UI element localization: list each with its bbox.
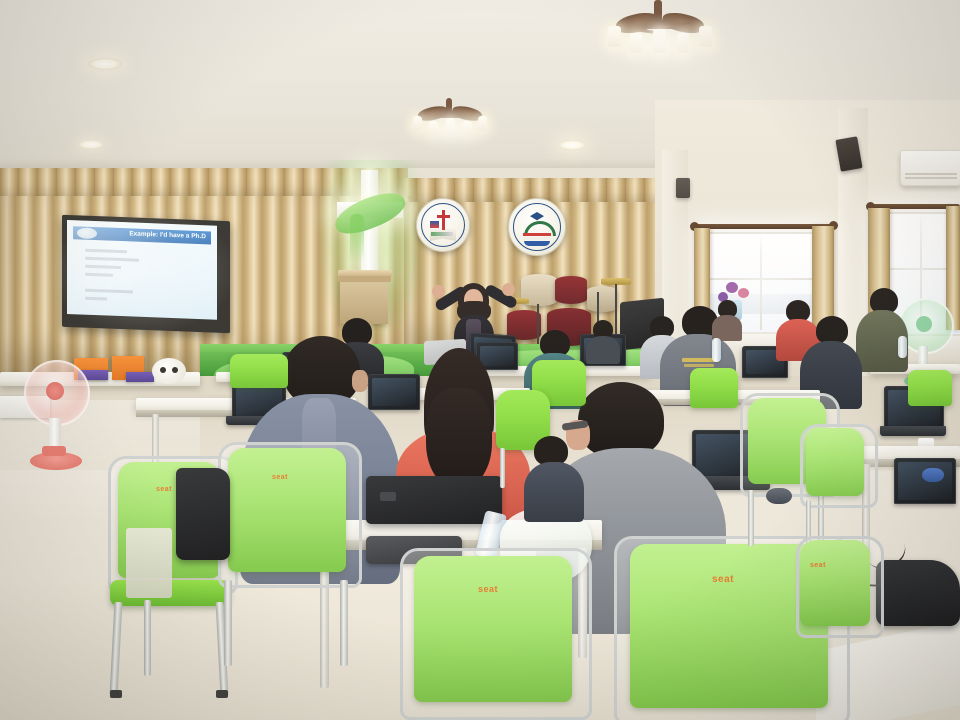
attendee-dark-navy [524,436,584,516]
computer-mouse [922,468,944,482]
chair-center-left: seat [212,448,362,638]
school-seal [508,198,566,256]
laptop-base [880,426,946,436]
chair-front-center: seat [392,556,592,720]
floor-bag [176,468,230,560]
chair-leg [340,580,348,666]
attendee-back-small [586,320,620,360]
chair-right-mid2 [800,428,872,544]
chair-leg [110,602,123,696]
tom-drum [555,276,587,304]
chair-logo: seat [810,562,826,569]
floor-paper [126,528,172,598]
chair-backrest [230,354,288,388]
shirt-print [682,358,716,362]
computer-mouse [766,488,792,504]
bag-logo [380,492,396,501]
chair-backrest [690,368,738,408]
chair-back-small [906,370,956,410]
chair-leg [748,490,754,546]
chair-leg [224,580,232,666]
chair-logo: seat [478,584,498,594]
downlight-icon [78,140,104,149]
plush-toy [152,358,186,384]
water-bottle [712,338,721,362]
presenter-hand-right [502,283,515,296]
presenter-hand-left [432,285,445,298]
wall-speaker [676,178,690,198]
water-bottle [898,336,907,358]
snare-drum [587,286,617,312]
storage-box-purple [126,372,154,382]
ear [352,370,368,392]
head-hair-front [426,388,492,488]
chair-leg [144,600,151,676]
cross-sash-tail [350,214,364,262]
photo-scene: Example: I'd have a Ph.D [0,0,960,720]
chair-back-small [226,354,296,394]
projector-screen: Example: I'd have a Ph.D [62,215,230,333]
downlight-icon [88,58,122,70]
chair-logo: seat [712,574,734,585]
downlight-icon [558,140,586,150]
pedestal-fan-pink [18,360,98,470]
chair-foot [216,690,228,698]
chandelier-large [600,0,720,62]
laptop-bag-black [366,476,502,524]
shirt-print [684,364,714,367]
torso [524,462,584,522]
chair-foot [110,690,122,698]
church-seal [416,198,470,252]
chair-back-small [688,368,742,412]
laptop-screen [894,458,956,504]
chair-leg [500,448,505,488]
podium-top [337,276,391,282]
chair-right-front: seat [796,540,880,660]
air-conditioner [900,150,960,186]
chair-logo: seat [272,474,288,481]
chandelier-small [408,98,492,142]
chair-frame [218,442,362,588]
chair-frame [796,536,884,638]
flower [738,288,749,298]
flower [726,282,738,293]
chair-logo: seat [156,486,172,493]
chair-backrest [908,370,952,406]
chair-frame [800,424,878,508]
attendee-back-small [712,300,742,338]
chair-frame [400,548,592,720]
